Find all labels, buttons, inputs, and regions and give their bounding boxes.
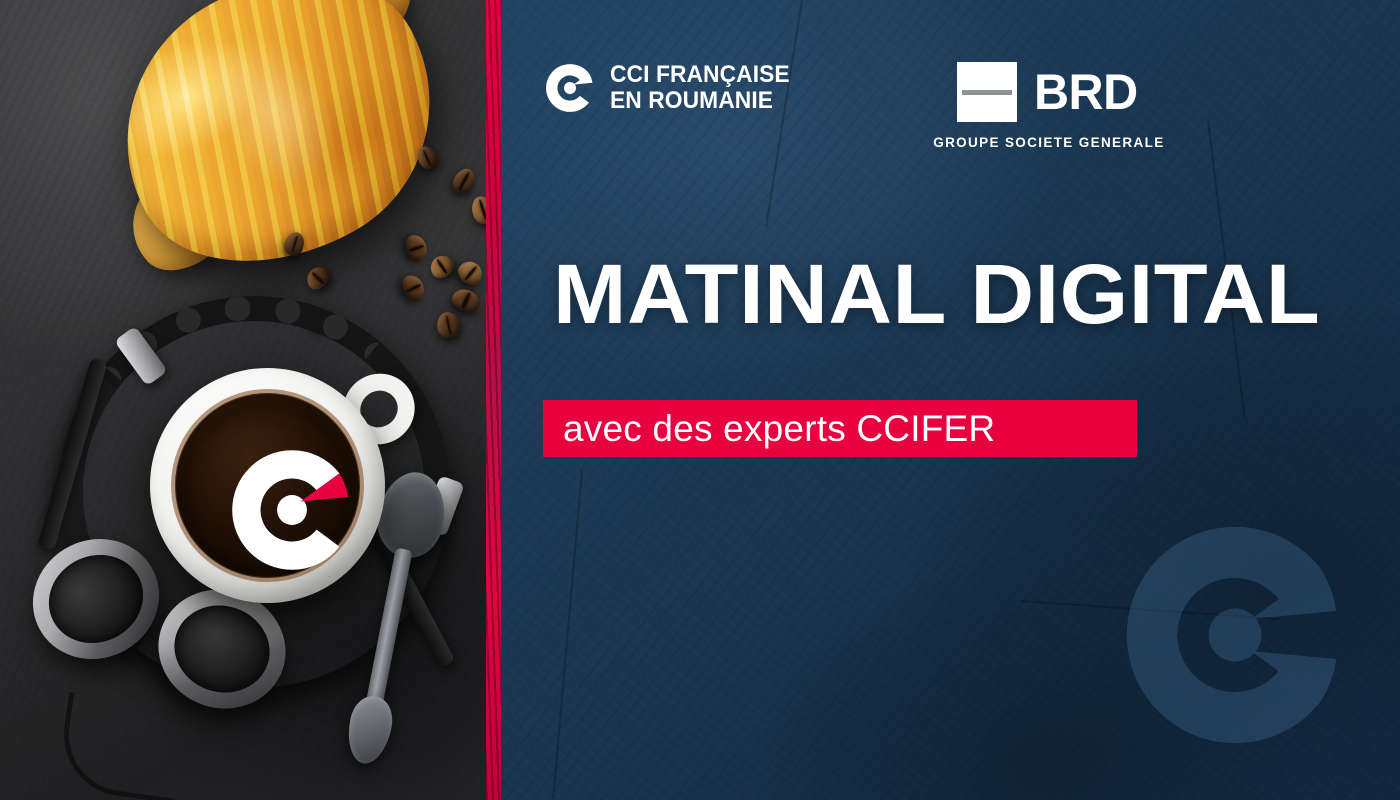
brd-tagline: GROUPE SOCIETE GENERALE [933, 135, 1164, 150]
cci-logo-text: CCI FRANÇAISE EN ROUMANIE [610, 62, 790, 115]
photo-panel [0, 0, 486, 800]
red-divider-stripe [486, 0, 501, 800]
brd-square-icon [957, 62, 1017, 122]
cci-logo[interactable]: CCI FRANÇAISE EN ROUMANIE [544, 62, 803, 115]
brd-wordmark: BRD [1034, 67, 1138, 117]
texture-crack [552, 470, 583, 799]
cci-target-logo-watermark-icon [1120, 520, 1350, 750]
coffee-mug [150, 368, 385, 603]
cci-target-logo-icon [544, 62, 596, 114]
page-title: MATINAL DIGITAL [553, 252, 1320, 336]
cci-logo-line2: EN ROUMANIE [610, 88, 790, 114]
coffee-surface [175, 393, 360, 578]
spoon-handle-end [343, 693, 397, 768]
logo-row: CCI FRANÇAISE EN ROUMANIE BRD GROUPE SOC… [544, 62, 1165, 150]
brd-logo[interactable]: BRD GROUPE SOCIETE GENERALE [933, 62, 1164, 150]
subtitle-text: avec des experts CCIFER [543, 410, 995, 447]
cci-target-logo-icon [227, 445, 357, 575]
marketing-banner: CCI FRANÇAISE EN ROUMANIE BRD GROUPE SOC… [0, 0, 1400, 800]
subtitle-banner: avec des experts CCIFER [543, 400, 1137, 457]
cci-logo-line1: CCI FRANÇAISE [610, 62, 790, 88]
mug-body [150, 368, 385, 603]
brd-logo-top: BRD [957, 62, 1141, 122]
